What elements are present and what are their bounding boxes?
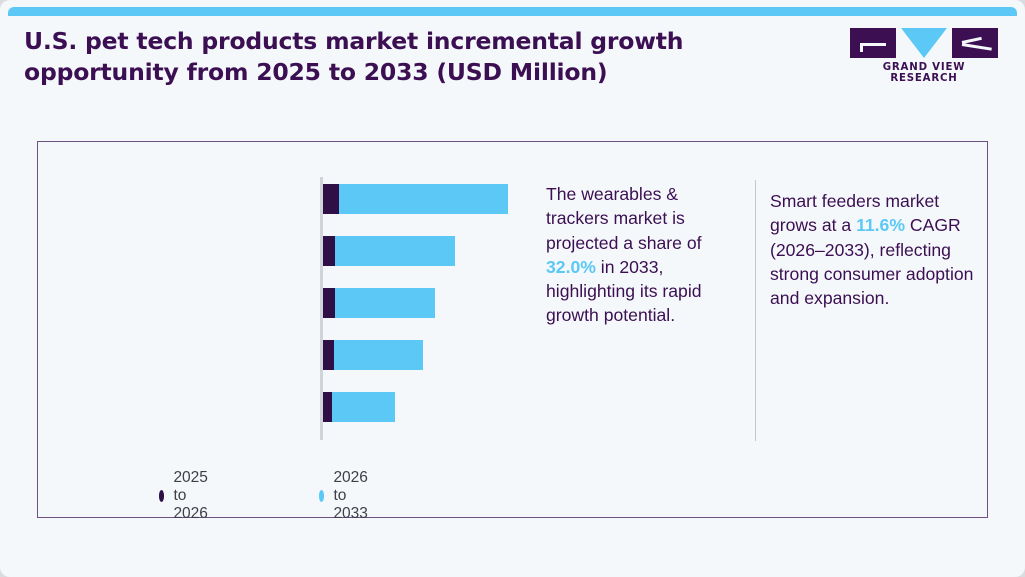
infographic-page: U.S. pet tech products market incrementa… [0, 0, 1025, 577]
legend-item-2026-2033[interactable]: 2026 to 2033 [319, 469, 374, 523]
logo-marks [850, 28, 998, 58]
insight-1-pre: The wearables & trackers market is proje… [546, 184, 702, 253]
bar-segment-2025-2026 [323, 184, 339, 214]
bar-segment-2026-2033 [335, 236, 455, 266]
bar-segment-2025-2026 [323, 340, 334, 370]
logo-v-triangle-icon [901, 28, 947, 58]
table-row[interactable]: Smart feeders [38, 236, 548, 266]
smart-feeders-insight-text: Smart feeders market grows at a 11.6% CA… [770, 189, 976, 310]
table-row[interactable]: Wearables & Trackers [38, 184, 548, 214]
logo-wordmark: GRAND VIEW RESEARCH [850, 62, 998, 84]
page-title-line-1: U.S. pet tech products market incrementa… [24, 27, 683, 55]
bar-segment-2025-2026 [323, 392, 332, 422]
content-card: Wearables & Trackers Smart feeders Smart… [37, 141, 988, 518]
logo-g-cut-vertical-icon [860, 43, 863, 52]
page-title-line-2: opportunity from 2025 to 2033 (USD Milli… [24, 57, 724, 88]
bar-segment-2025-2026 [323, 236, 335, 266]
legend-item-2025-2026[interactable]: 2025 to 2026 [159, 469, 214, 523]
insight-1-highlight: 32.0% [546, 257, 596, 277]
logo-r-block-icon [952, 28, 998, 58]
incremental-growth-bar-chart: Wearables & Trackers Smart feeders Smart… [38, 142, 548, 462]
grand-view-research-logo: GRAND VIEW RESEARCH [850, 28, 998, 76]
bar-segment-2025-2026 [323, 288, 335, 318]
legend-dot-icon [319, 490, 324, 502]
legend-dot-icon [159, 490, 164, 502]
logo-g-cut-icon [860, 43, 886, 46]
bar-segment-2026-2033 [335, 288, 435, 318]
bar-segment-2026-2033 [334, 340, 423, 370]
wearables-insight-text: The wearables & trackers market is proje… [546, 182, 742, 328]
page-title: U.S. pet tech products market incrementa… [24, 26, 724, 88]
table-row[interactable]: Health Monitoring devices [38, 340, 548, 370]
legend-label: 2026 to 2033 [333, 469, 374, 523]
table-row[interactable]: Smart (Automated) Litter box [38, 288, 548, 318]
panel-divider [755, 180, 756, 441]
insight-2-highlight: 11.6% [856, 215, 905, 235]
table-row[interactable]: Others (Smart doors, Smart Water Systems… [38, 392, 548, 422]
top-accent-bar [8, 7, 1017, 16]
bar-segment-2026-2033 [332, 392, 395, 422]
bar-segment-2026-2033 [339, 184, 508, 214]
legend-label: 2025 to 2026 [173, 469, 214, 523]
